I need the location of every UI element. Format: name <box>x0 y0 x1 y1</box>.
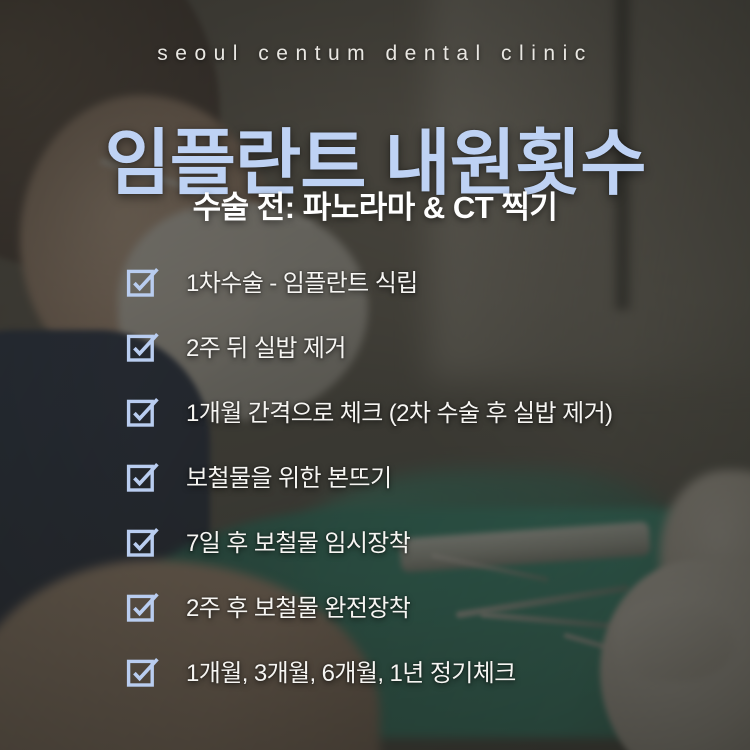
list-item-label: 2주 후 보철물 완전장착 <box>186 588 410 623</box>
list-item-label: 1차수술 - 임플란트 식립 <box>186 263 418 298</box>
list-item: 2주 뒤 실밥 제거 <box>126 313 720 378</box>
dental-clinic-poster: seoul centum dental clinic 임플란트 내원횟수 수술 … <box>0 0 750 750</box>
list-item: 1개월, 3개월, 6개월, 1년 정기체크 <box>126 638 720 703</box>
checkbox-checked-icon <box>126 524 160 558</box>
visit-checklist: 1차수술 - 임플란트 식립 2주 뒤 실밥 제거 <box>126 248 720 703</box>
list-item: 1차수술 - 임플란트 식립 <box>126 248 720 313</box>
checkbox-checked-icon <box>126 394 160 428</box>
page-subtitle: 수술 전: 파노라마 & CT 찍기 <box>0 182 750 227</box>
checkbox-checked-icon <box>126 329 160 363</box>
list-item-label: 1개월 간격으로 체크 (2차 수술 후 실밥 제거) <box>186 393 612 428</box>
checkbox-checked-icon <box>126 264 160 298</box>
checkbox-checked-icon <box>126 589 160 623</box>
clinic-name-kicker: seoul centum dental clinic <box>0 42 750 66</box>
list-item-label: 1개월, 3개월, 6개월, 1년 정기체크 <box>186 653 516 688</box>
poster-content: seoul centum dental clinic 임플란트 내원횟수 수술 … <box>0 0 750 750</box>
list-item-label: 보철물을 위한 본뜨기 <box>186 458 391 493</box>
list-item: 2주 후 보철물 완전장착 <box>126 573 720 638</box>
list-item: 보철물을 위한 본뜨기 <box>126 443 720 508</box>
list-item-label: 7일 후 보철물 임시장착 <box>186 523 410 558</box>
list-item: 1개월 간격으로 체크 (2차 수술 후 실밥 제거) <box>126 378 720 443</box>
checkbox-checked-icon <box>126 459 160 493</box>
list-item: 7일 후 보철물 임시장착 <box>126 508 720 573</box>
checkbox-checked-icon <box>126 654 160 688</box>
list-item-label: 2주 뒤 실밥 제거 <box>186 328 346 363</box>
